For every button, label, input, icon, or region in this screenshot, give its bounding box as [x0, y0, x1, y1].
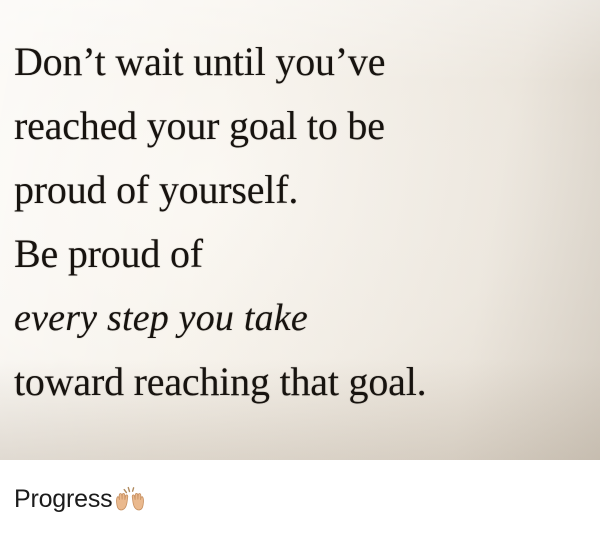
quote-line-6: toward reaching that goal.	[14, 350, 590, 414]
quote-line-5: every step you take	[14, 286, 590, 350]
quote-line-4: Be proud of	[14, 222, 590, 286]
quote-line-1: Don’t wait until you’ve	[14, 30, 590, 94]
quote-line-2: reached your goal to be	[14, 94, 590, 158]
quote-line-3: proud of yourself.	[14, 158, 590, 222]
raising-hands-icon	[114, 485, 146, 515]
caption-bar: Progress	[0, 460, 600, 539]
quote-text-block: Don’t wait until you’ve reached your goa…	[0, 0, 600, 414]
caption-label: Progress	[14, 485, 112, 514]
meme-image: Don’t wait until you’ve reached your goa…	[0, 0, 600, 539]
quote-photo: Don’t wait until you’ve reached your goa…	[0, 0, 600, 460]
